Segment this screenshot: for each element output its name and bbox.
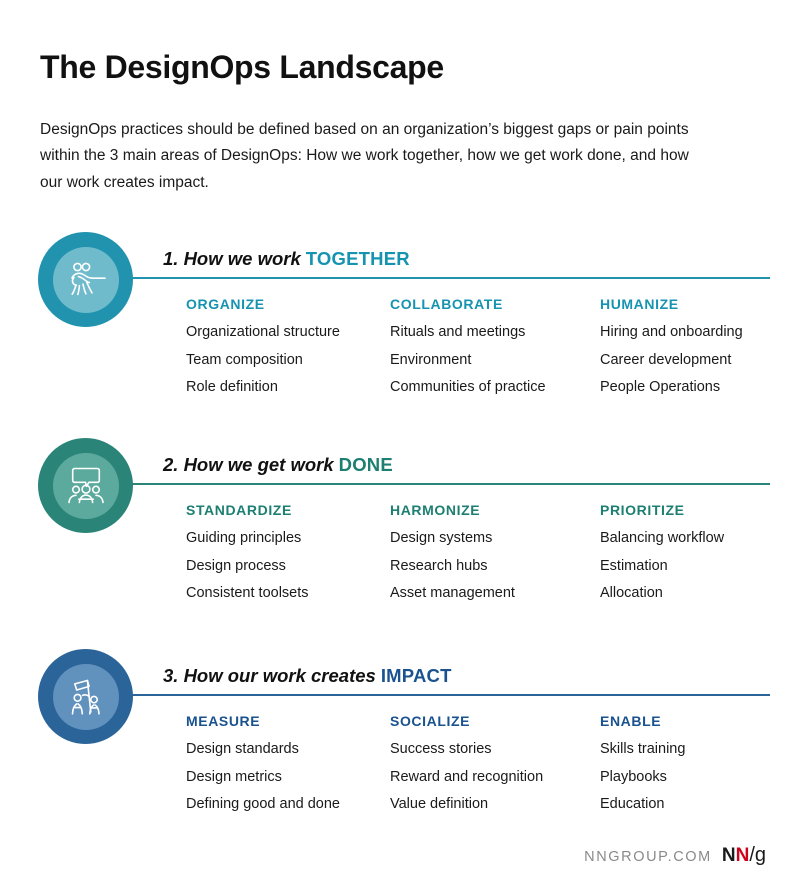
nng-logo-n2: N <box>736 845 750 866</box>
column-standardize: STANDARDIZE Guiding principles Design pr… <box>186 502 390 601</box>
column-socialize: SOCIALIZE Success stories Reward and rec… <box>390 713 600 812</box>
section-heading-keyword-2: DONE <box>339 454 393 475</box>
section-rule-3 <box>129 694 770 696</box>
column-item: Research hubs <box>390 559 600 574</box>
column-item: Environment <box>390 353 600 368</box>
section-columns-2: STANDARDIZE Guiding principles Design pr… <box>186 502 786 601</box>
section-columns-3: MEASURE Design standards Design metrics … <box>186 713 786 812</box>
section-heading-1: 1. How we workTOGETHER <box>163 248 410 270</box>
column-item: Allocation <box>600 586 786 601</box>
section-heading-keyword-1: TOGETHER <box>306 248 410 269</box>
column-item: Value definition <box>390 797 600 812</box>
column-title: PRIORITIZE <box>600 502 786 518</box>
page-title: The DesignOps Landscape <box>40 50 444 85</box>
footer-domain: NNGROUP.COM <box>584 849 712 865</box>
column-item: Education <box>600 797 786 812</box>
column-item: Design systems <box>390 531 600 546</box>
column-item: Organizational structure <box>186 325 390 340</box>
column-title: ENABLE <box>600 713 786 729</box>
section-heading-plain-2: 2. How we get work <box>163 454 334 475</box>
section-rule-1 <box>129 277 770 279</box>
page-subtitle: DesignOps practices should be defined ba… <box>40 117 690 197</box>
nng-logo: NN/g <box>722 844 766 867</box>
footer: NNGROUP.COM NN/g <box>584 844 766 867</box>
tug-of-war-icon <box>63 257 109 303</box>
column-title: STANDARDIZE <box>186 502 390 518</box>
column-item: Skills training <box>600 742 786 757</box>
nng-logo-slash-g: /g <box>749 844 766 866</box>
column-prioritize: PRIORITIZE Balancing workflow Estimation… <box>600 502 786 601</box>
section-heading-keyword-3: IMPACT <box>381 665 452 686</box>
column-item: Success stories <box>390 742 600 757</box>
column-harmonize: HARMONIZE Design systems Research hubs A… <box>390 502 600 601</box>
column-item: Communities of practice <box>390 380 600 395</box>
column-organize: ORGANIZE Organizational structure Team c… <box>186 296 390 395</box>
column-item: Design metrics <box>186 770 390 785</box>
column-item: Design process <box>186 559 390 574</box>
column-item: People Operations <box>600 380 786 395</box>
section-heading-2: 2. How we get workDONE <box>163 454 393 476</box>
column-item: Balancing workflow <box>600 531 786 546</box>
column-enable: ENABLE Skills training Playbooks Educati… <box>600 713 786 812</box>
section-badge-2 <box>38 438 133 533</box>
column-title: HUMANIZE <box>600 296 786 312</box>
section-heading-3: 3. How our work createsIMPACT <box>163 665 452 687</box>
column-measure: MEASURE Design standards Design metrics … <box>186 713 390 812</box>
column-item: Team composition <box>186 353 390 368</box>
column-item: Asset management <box>390 586 600 601</box>
column-item: Career development <box>600 353 786 368</box>
section-badge-1 <box>38 232 133 327</box>
column-item: Reward and recognition <box>390 770 600 785</box>
column-title: ORGANIZE <box>186 296 390 312</box>
column-item: Consistent toolsets <box>186 586 390 601</box>
flag-summit-icon <box>63 674 109 720</box>
section-rule-2 <box>129 483 770 485</box>
column-item: Estimation <box>600 559 786 574</box>
column-title: SOCIALIZE <box>390 713 600 729</box>
section-columns-1: ORGANIZE Organizational structure Team c… <box>186 296 786 395</box>
column-title: MEASURE <box>186 713 390 729</box>
column-title: HARMONIZE <box>390 502 600 518</box>
column-item: Playbooks <box>600 770 786 785</box>
column-title: COLLABORATE <box>390 296 600 312</box>
column-humanize: HUMANIZE Hiring and onboarding Career de… <box>600 296 786 395</box>
section-badge-inner-1 <box>53 247 119 313</box>
section-badge-inner-2 <box>53 453 119 519</box>
section-badge-3 <box>38 649 133 744</box>
column-item: Design standards <box>186 742 390 757</box>
column-item: Defining good and done <box>186 797 390 812</box>
column-item: Guiding principles <box>186 531 390 546</box>
column-item: Role definition <box>186 380 390 395</box>
column-item: Rituals and meetings <box>390 325 600 340</box>
column-collaborate: COLLABORATE Rituals and meetings Environ… <box>390 296 600 395</box>
column-item: Hiring and onboarding <box>600 325 786 340</box>
team-meeting-icon <box>63 463 109 509</box>
section-badge-inner-3 <box>53 664 119 730</box>
section-heading-plain-1: 1. How we work <box>163 248 301 269</box>
section-heading-plain-3: 3. How our work creates <box>163 665 376 686</box>
nng-logo-n1: N <box>722 845 736 866</box>
